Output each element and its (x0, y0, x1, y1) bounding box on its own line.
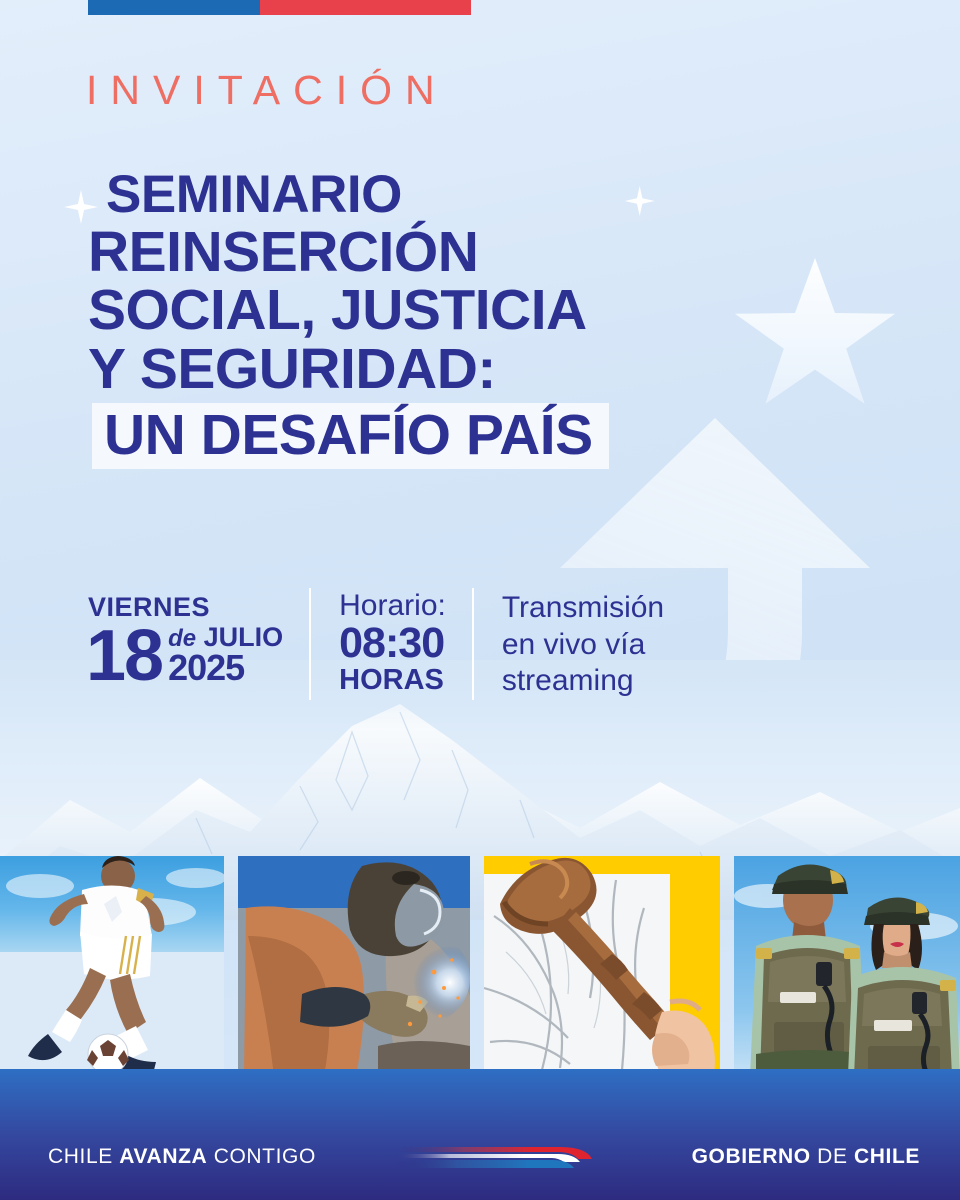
event-time-unit: HORAS (339, 665, 446, 697)
event-streaming-block: Transmisión en vivo vía streaming (472, 588, 690, 700)
page-title: SEMINARIO REINSERCIÓN SOCIAL, JUSTICIA Y… (88, 168, 609, 469)
footer: CHILE AVANZA CONTIGO (0, 1114, 960, 1200)
event-time-value: 08:30 (339, 622, 446, 666)
photo-gap (470, 856, 484, 1076)
watermark-star-icon (735, 258, 895, 413)
sparkle-right-icon (625, 186, 655, 216)
footer-chile: CHILE (854, 1145, 920, 1168)
event-time-block: Horario: 08:30 HORAS (309, 588, 472, 700)
event-time-label: Horario: (339, 590, 446, 622)
title-line-2: REINSERCIÓN (88, 223, 609, 282)
photo-strip (0, 856, 960, 1076)
sparkle-left-icon (64, 190, 98, 224)
streaming-line-3: streaming (502, 663, 664, 700)
invitation-kicker: INVITACIÓN (86, 70, 448, 111)
gavel-photo (484, 856, 720, 1076)
streaming-line-1: Transmisión (502, 590, 664, 627)
welder-photo (238, 856, 470, 1076)
event-day-number: 18 (86, 626, 162, 687)
title-line-1-text: SEMINARIO (106, 165, 402, 224)
carabineros-photo (734, 856, 960, 1076)
title-line-4: Y SEGURIDAD: (88, 340, 609, 399)
footer-slogan-contigo: CONTIGO (207, 1145, 316, 1168)
event-year: 2025 (168, 651, 283, 685)
event-date-block: VIERNES 18 de JULIO 2025 (86, 588, 309, 700)
footer-de: DE (811, 1145, 854, 1168)
photo-gap (720, 856, 734, 1076)
title-line-5-highlight: UN DESAFÍO PAÍS (92, 403, 609, 470)
footer-slogan-avanza: AVANZA (119, 1145, 207, 1168)
footer-government-label: GOBIERNO DE CHILE (692, 1145, 920, 1169)
invitation-poster: INVITACIÓN SEMINARIO REINSERCIÓN SOCIAL,… (0, 0, 960, 1200)
gobierno-de-chile-swoosh-logo (392, 1135, 602, 1179)
photo-gap (224, 856, 238, 1076)
footer-gobierno: GOBIERNO (692, 1145, 811, 1168)
title-line-3: SOCIAL, JUSTICIA (88, 281, 609, 340)
footer-slogan: CHILE AVANZA CONTIGO (48, 1145, 316, 1169)
event-info-row: VIERNES 18 de JULIO 2025 Horario: 08:30 … (86, 588, 690, 700)
title-line-1: SEMINARIO (106, 168, 609, 223)
flag-red-segment (260, 0, 471, 15)
footer-slogan-chile: CHILE (48, 1145, 119, 1168)
flag-blue-segment (88, 0, 260, 15)
streaming-line-2: en vivo vía (502, 627, 664, 664)
soccer-player-photo (0, 856, 224, 1076)
chile-flag-bar (88, 0, 471, 15)
